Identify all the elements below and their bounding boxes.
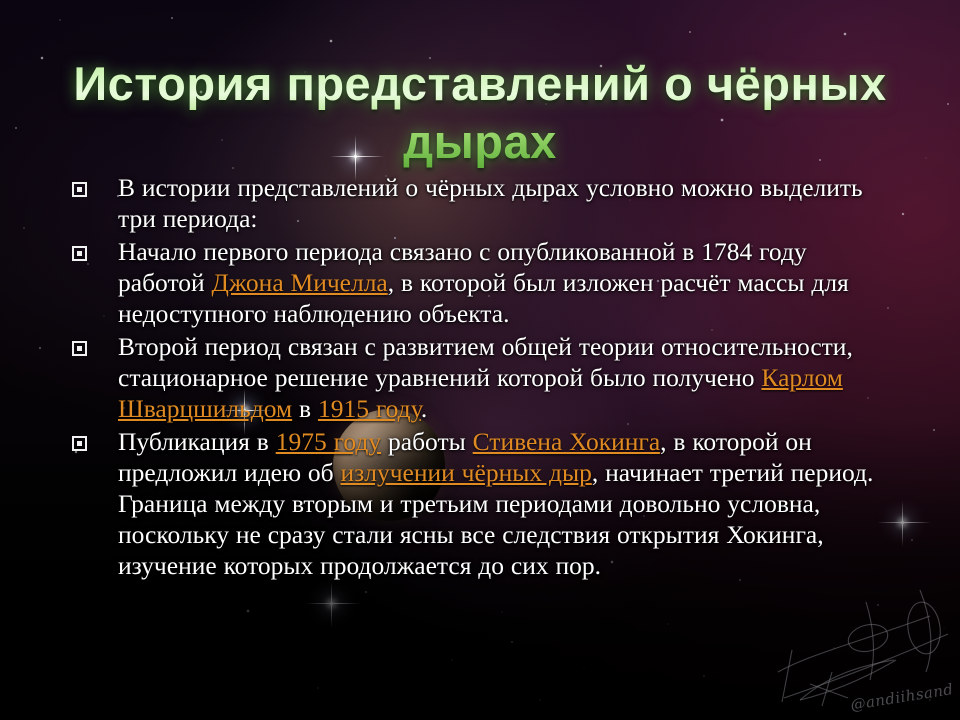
- square-bullet-icon: [72, 182, 87, 197]
- text-run: .: [421, 394, 427, 423]
- text-run: работы: [381, 427, 472, 456]
- square-bullet-icon: [72, 436, 87, 451]
- text-run: Второй период связан с развитием общей т…: [118, 332, 853, 392]
- bullet-item: Начало первого периода связано с опублик…: [70, 236, 900, 329]
- square-bullet-icon: [72, 246, 87, 261]
- hyperlink[interactable]: 1975 году: [276, 427, 381, 456]
- bullet-text: Начало первого периода связано с опублик…: [118, 237, 849, 328]
- bullet-item: В истории представлений о чёрных дырах у…: [70, 172, 900, 234]
- presentation-slide: История представлений о чёрных дырах В и…: [0, 0, 960, 720]
- text-run: В истории представлений о чёрных дырах у…: [118, 173, 863, 233]
- slide-title-line-1: История представлений о чёрных: [73, 57, 886, 110]
- slide-title-line-2: дырах: [403, 115, 556, 168]
- square-bullet-icon: [72, 341, 87, 356]
- hyperlink[interactable]: 1915 году: [318, 394, 421, 423]
- bullet-list: В истории представлений о чёрных дырах у…: [70, 172, 900, 583]
- bullet-text: Публикация в 1975 году работы Стивена Хо…: [118, 427, 873, 580]
- hyperlink[interactable]: Джона Мичелла: [212, 268, 388, 297]
- hyperlink[interactable]: излучении чёрных дыр: [341, 458, 592, 487]
- text-run: в: [292, 394, 318, 423]
- hyperlink[interactable]: Стивена Хокинга: [473, 427, 661, 456]
- bullet-item: Второй период связан с развитием общей т…: [70, 331, 900, 424]
- bullet-text: В истории представлений о чёрных дырах у…: [118, 173, 863, 233]
- text-run: Публикация в: [118, 427, 276, 456]
- slide-title: История представлений о чёрных дырах: [60, 55, 900, 170]
- bullet-item: Публикация в 1975 году работы Стивена Хо…: [70, 426, 900, 581]
- bullet-text: Второй период связан с развитием общей т…: [118, 332, 853, 423]
